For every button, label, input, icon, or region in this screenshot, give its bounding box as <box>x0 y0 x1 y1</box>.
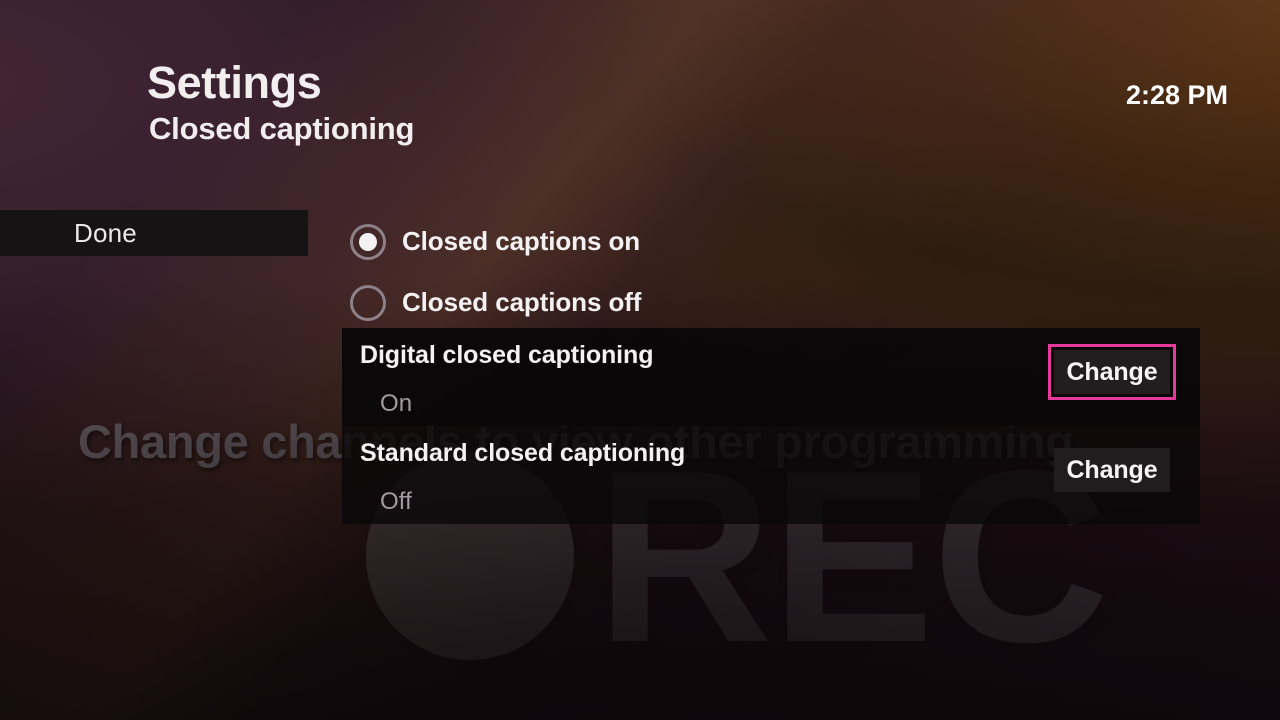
change-button-standard[interactable]: Change <box>1054 448 1170 492</box>
radio-option-label: Closed captions on <box>402 226 640 257</box>
status-clock: 2:28 PM <box>1126 80 1228 111</box>
setting-row-digital-closed-captioning[interactable]: Digital closed captioning On Change <box>342 328 1200 426</box>
page-title: Settings <box>147 58 414 108</box>
page-header: Settings Closed captioning <box>147 58 414 146</box>
radio-option-closed-captions-off[interactable]: Closed captions off <box>350 272 641 333</box>
captioning-settings-panel: Digital closed captioning On Change Stan… <box>342 328 1200 524</box>
radio-selected-icon <box>350 224 386 260</box>
radio-option-label: Closed captions off <box>402 287 641 318</box>
setting-row-title: Standard closed captioning <box>360 439 685 468</box>
done-button-label: Done <box>74 218 137 249</box>
change-button-digital[interactable]: Change <box>1054 350 1170 394</box>
radio-option-closed-captions-on[interactable]: Closed captions on <box>350 211 641 272</box>
setting-row-value: Off <box>380 488 412 516</box>
setting-row-standard-closed-captioning[interactable]: Standard closed captioning Off Change <box>342 426 1200 524</box>
change-button-label: Change <box>1066 358 1157 387</box>
caption-mode-radio-group: Closed captions on Closed captions off <box>350 211 641 333</box>
change-button-label: Change <box>1066 456 1157 485</box>
setting-row-value: On <box>380 390 412 418</box>
setting-row-title: Digital closed captioning <box>360 341 653 370</box>
radio-unselected-icon <box>350 285 386 321</box>
page-subtitle: Closed captioning <box>149 112 414 146</box>
tv-settings-screen: REC Change channels to view other progra… <box>0 0 1280 720</box>
done-button[interactable]: Done <box>0 210 308 256</box>
